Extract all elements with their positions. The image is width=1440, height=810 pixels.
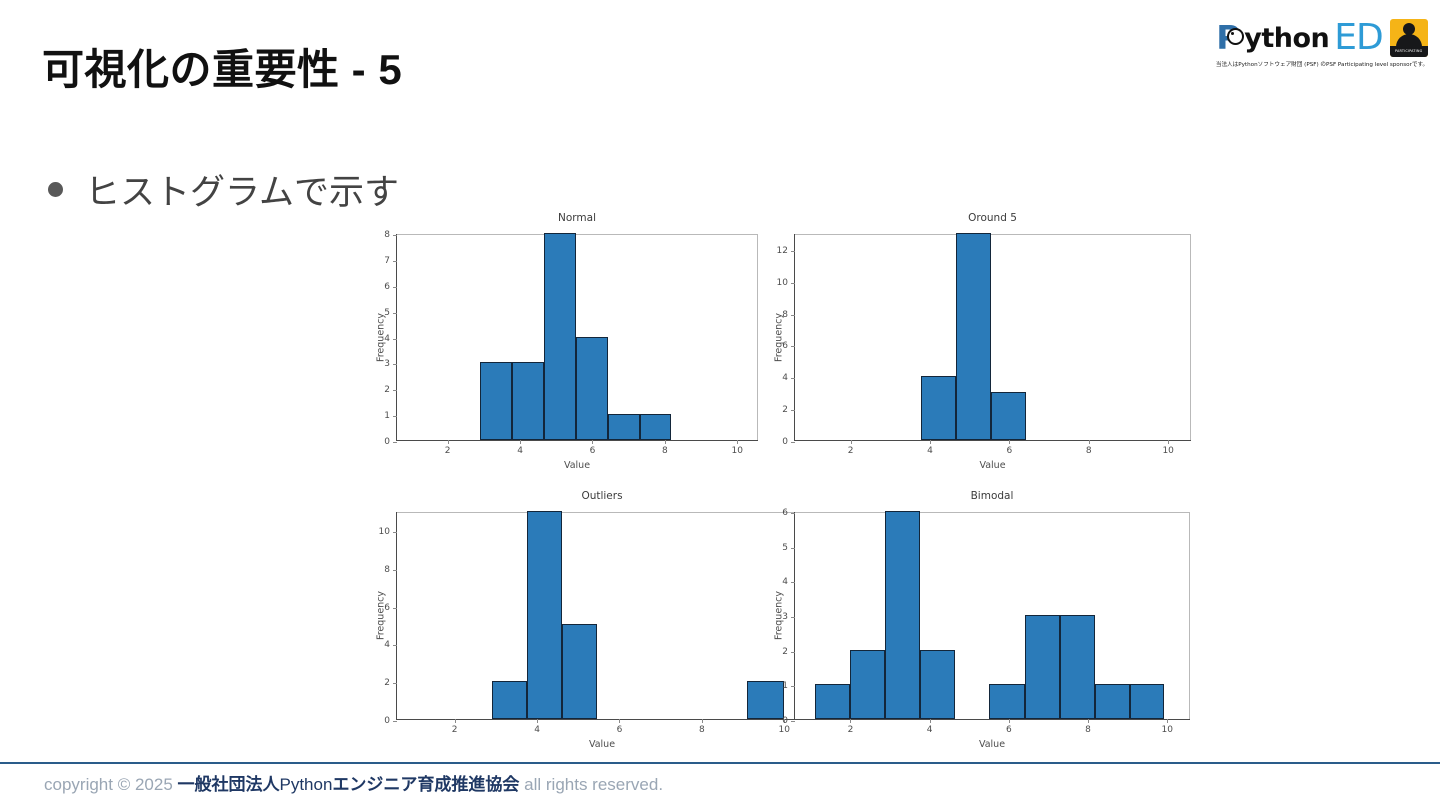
y-axis-tick bbox=[791, 721, 795, 722]
y-axis-tick bbox=[791, 442, 795, 443]
x-axis-label: Value bbox=[795, 739, 1189, 750]
pythoned-logo: P ython ED PARTICIPATING 当法人はPythonソフトウェ… bbox=[1214, 16, 1430, 69]
logo-wordmark: P ython ED PARTICIPATING bbox=[1214, 16, 1430, 60]
x-axis-tick-label: 10 bbox=[1162, 446, 1173, 456]
y-axis-tick-label: 0 bbox=[384, 437, 390, 447]
y-axis-tick bbox=[791, 686, 795, 687]
x-axis-tick bbox=[448, 440, 449, 444]
y-axis-label: Frequency bbox=[774, 576, 785, 656]
y-axis-tick-label: 0 bbox=[782, 437, 788, 447]
chart-plot-area: 246810012345678ValueFrequency bbox=[396, 234, 758, 441]
badge-label: PARTICIPATING bbox=[1390, 46, 1428, 57]
footer-copyright: copyright © 2025 一般社団法人Pythonエンジニア育成推進協会… bbox=[44, 770, 663, 795]
logo-python-text: ython bbox=[1244, 25, 1329, 52]
chart-panel-outliers: Outliers2468100246810ValueFrequency bbox=[286, 490, 721, 757]
y-axis-tick bbox=[393, 287, 397, 288]
y-axis-tick bbox=[791, 513, 795, 514]
histogram-bar bbox=[920, 650, 955, 719]
x-axis-tick bbox=[520, 440, 521, 444]
x-axis-tick bbox=[850, 719, 851, 723]
histogram-bar bbox=[1025, 615, 1060, 719]
footer-prefix: copyright © 2025 bbox=[44, 775, 178, 794]
y-axis-tick-label: 1 bbox=[384, 411, 390, 421]
footer-org-bold-2: エンジニア育成推進協会 bbox=[332, 775, 519, 794]
histogram-bar bbox=[850, 650, 885, 719]
histogram-bar bbox=[608, 414, 640, 440]
x-axis-tick-label: 8 bbox=[1085, 725, 1091, 735]
x-axis-spine bbox=[396, 440, 758, 441]
y-axis-tick bbox=[393, 683, 397, 684]
y-axis-tick-label: 10 bbox=[379, 527, 390, 537]
histogram-bar bbox=[544, 233, 576, 440]
x-axis-tick-label: 2 bbox=[445, 446, 451, 456]
x-axis-tick bbox=[537, 719, 538, 723]
histogram-bar bbox=[512, 362, 544, 440]
y-axis-tick-label: 2 bbox=[782, 405, 788, 415]
psf-participating-badge-icon: PARTICIPATING bbox=[1390, 19, 1428, 57]
x-axis-tick-label: 8 bbox=[699, 725, 705, 735]
x-axis-tick bbox=[1089, 440, 1090, 444]
y-axis-tick bbox=[393, 313, 397, 314]
y-axis-tick bbox=[791, 617, 795, 618]
y-axis-tick-label: 10 bbox=[777, 278, 788, 288]
histogram-bar bbox=[921, 376, 956, 440]
y-axis-tick bbox=[393, 645, 397, 646]
x-axis-tick-label: 8 bbox=[1086, 446, 1092, 456]
y-axis-tick bbox=[393, 608, 397, 609]
x-axis-tick-label: 4 bbox=[517, 446, 523, 456]
histogram-bar bbox=[492, 681, 527, 719]
footer-divider bbox=[0, 762, 1440, 764]
x-axis-tick bbox=[930, 440, 931, 444]
histogram-bar bbox=[1095, 684, 1130, 719]
footer-org-bold-1: 一般社団法人 bbox=[178, 775, 280, 794]
y-axis-tick bbox=[791, 346, 795, 347]
y-axis-tick bbox=[393, 442, 397, 443]
y-axis-spine bbox=[396, 234, 397, 441]
histogram-bar bbox=[1130, 684, 1165, 719]
y-axis-tick bbox=[393, 339, 397, 340]
page-title: 可視化の重要性 - 5 bbox=[42, 36, 402, 97]
y-axis-tick bbox=[393, 570, 397, 571]
python-snake-icon bbox=[1227, 28, 1244, 45]
y-axis-tick-label: 6 bbox=[782, 508, 788, 518]
y-axis-tick bbox=[791, 378, 795, 379]
y-axis-tick bbox=[393, 532, 397, 533]
y-axis-tick bbox=[791, 410, 795, 411]
x-axis-tick-label: 6 bbox=[1006, 725, 1012, 735]
x-axis-tick bbox=[1009, 719, 1010, 723]
y-axis-tick-label: 6 bbox=[384, 282, 390, 292]
histogram-figure: Normal246810012345678ValueFrequencyOroun… bbox=[286, 212, 1146, 757]
x-axis-tick bbox=[619, 719, 620, 723]
y-axis-tick-label: 8 bbox=[384, 565, 390, 575]
chart-panel-oround-5: Oround 5246810024681012ValueFrequency bbox=[726, 212, 1126, 474]
logo-fineprint: 当法人はPythonソフトウェア財団 (PSF) のPSF Participat… bbox=[1214, 61, 1430, 69]
x-axis-tick bbox=[851, 440, 852, 444]
y-axis-tick-label: 12 bbox=[777, 246, 788, 256]
y-axis-tick bbox=[393, 261, 397, 262]
chart-title: Normal bbox=[396, 212, 758, 224]
badge-strip: PARTICIPATING bbox=[1390, 46, 1428, 57]
histogram-bar bbox=[562, 624, 597, 719]
y-axis-tick bbox=[393, 416, 397, 417]
y-axis-tick bbox=[393, 235, 397, 236]
x-axis-tick bbox=[665, 440, 666, 444]
x-axis-label: Value bbox=[397, 460, 757, 471]
x-axis-tick bbox=[592, 440, 593, 444]
x-axis-spine bbox=[794, 719, 1190, 720]
x-axis-tick bbox=[702, 719, 703, 723]
x-axis-tick-label: 10 bbox=[1162, 725, 1173, 735]
y-axis-tick bbox=[791, 315, 795, 316]
logo-ed-text: ED bbox=[1334, 20, 1382, 56]
x-axis-label: Value bbox=[795, 460, 1190, 471]
chart-plot-area: 2468100123456ValueFrequency bbox=[794, 512, 1190, 720]
y-axis-tick-label: 0 bbox=[384, 716, 390, 726]
histogram-bar bbox=[1060, 615, 1095, 719]
histogram-bar bbox=[576, 337, 608, 441]
x-axis-tick-label: 6 bbox=[590, 446, 596, 456]
y-axis-tick bbox=[791, 548, 795, 549]
bullet-list-item: ヒストグラムで示す bbox=[48, 164, 399, 215]
chart-panel-normal: Normal246810012345678ValueFrequency bbox=[326, 212, 721, 474]
y-axis-spine bbox=[396, 512, 397, 720]
x-axis-tick bbox=[1168, 440, 1169, 444]
y-axis-tick bbox=[393, 721, 397, 722]
y-axis-tick-label: 8 bbox=[384, 230, 390, 240]
y-axis-spine bbox=[794, 512, 795, 720]
x-axis-tick bbox=[1167, 719, 1168, 723]
chart-title: Oround 5 bbox=[794, 212, 1191, 224]
histogram-bar bbox=[991, 392, 1026, 440]
x-axis-tick bbox=[1088, 719, 1089, 723]
y-axis-tick-label: 5 bbox=[782, 543, 788, 553]
footer-suffix: all rights reserved. bbox=[519, 775, 663, 794]
y-axis-label: Frequency bbox=[376, 576, 387, 656]
chart-plot-area: 246810024681012ValueFrequency bbox=[794, 234, 1191, 441]
y-axis-label: Frequency bbox=[376, 297, 387, 377]
x-axis-tick-label: 2 bbox=[452, 725, 458, 735]
x-axis-tick-label: 4 bbox=[927, 725, 933, 735]
x-axis-tick-label: 6 bbox=[1007, 446, 1013, 456]
x-axis-tick bbox=[930, 719, 931, 723]
y-axis-tick bbox=[791, 652, 795, 653]
y-axis-tick bbox=[791, 582, 795, 583]
chart-panel-bimodal: Bimodal2468100123456ValueFrequency bbox=[726, 490, 1126, 757]
chart-title: Bimodal bbox=[794, 490, 1190, 502]
y-axis-tick bbox=[791, 283, 795, 284]
histogram-bar bbox=[527, 511, 562, 719]
x-axis-tick-label: 2 bbox=[848, 446, 854, 456]
bullet-dot-icon bbox=[48, 182, 63, 197]
y-axis-tick bbox=[393, 390, 397, 391]
histogram-bar bbox=[885, 511, 920, 719]
footer-org-brand: Python bbox=[280, 775, 333, 794]
histogram-bar bbox=[640, 414, 672, 440]
bullet-item-label: ヒストグラムで示す bbox=[85, 164, 399, 215]
y-axis-tick bbox=[791, 251, 795, 252]
histogram-bar bbox=[815, 684, 850, 719]
x-axis-tick-label: 6 bbox=[617, 725, 623, 735]
y-axis-tick-label: 2 bbox=[384, 678, 390, 688]
histogram-bar bbox=[956, 233, 991, 440]
x-axis-tick-label: 4 bbox=[927, 446, 933, 456]
y-axis-tick-label: 7 bbox=[384, 256, 390, 266]
x-axis-tick bbox=[1009, 440, 1010, 444]
x-axis-tick-label: 2 bbox=[848, 725, 854, 735]
x-axis-spine bbox=[794, 440, 1191, 441]
x-axis-tick-label: 4 bbox=[534, 725, 540, 735]
python-p-icon: P bbox=[1216, 21, 1242, 55]
x-axis-tick bbox=[455, 719, 456, 723]
histogram-bar bbox=[989, 684, 1025, 719]
histogram-bar bbox=[480, 362, 512, 440]
x-axis-tick-label: 8 bbox=[662, 446, 668, 456]
y-axis-tick-label: 2 bbox=[384, 385, 390, 395]
y-axis-tick bbox=[393, 364, 397, 365]
y-axis-tick-label: 0 bbox=[782, 716, 788, 726]
y-axis-label: Frequency bbox=[774, 297, 785, 377]
y-axis-tick-label: 1 bbox=[782, 681, 788, 691]
